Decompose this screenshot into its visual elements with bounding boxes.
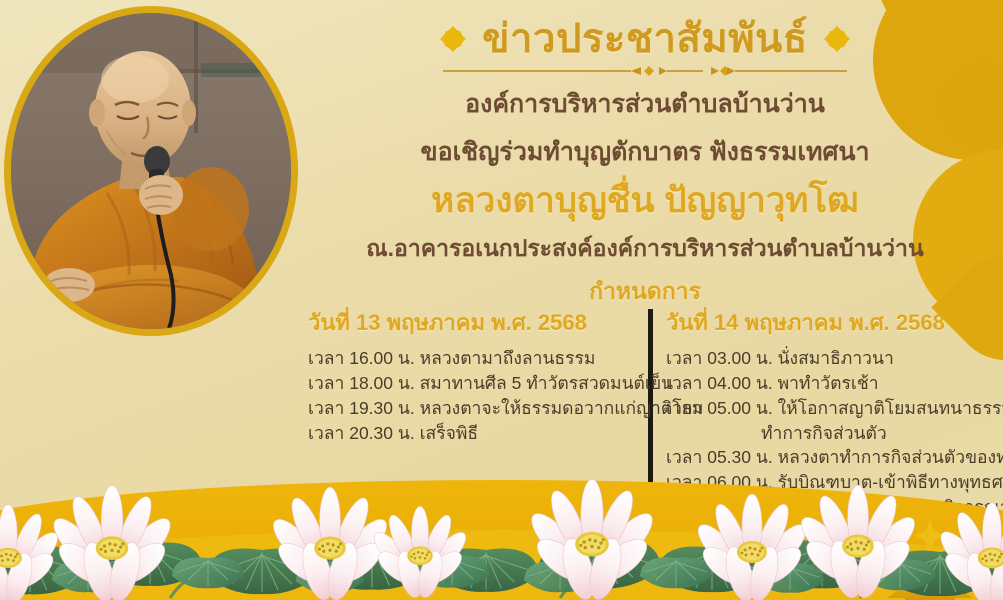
organization-name: องค์การบริหารส่วนตำบลบ้านว่าน — [300, 88, 990, 121]
page-title: ข่าวประชาสัมพันธ์ — [482, 18, 808, 60]
portrait-photo — [11, 13, 291, 329]
quatrefoil-ornament-right — [822, 24, 852, 54]
day1-event: เวลา 16.00 น. หลวงตามาถึงลานธรรม — [308, 346, 648, 371]
day2-event: เวลา 03.00 น. นั่งสมาธิภาวนา — [666, 346, 990, 371]
monk-portrait — [4, 6, 298, 336]
day2-heading: วันที่ 14 พฤษภาคม พ.ศ. 2568 — [666, 305, 990, 340]
header-block: ข่าวประชาสัมพันธ์ องค์การบริหารส่วนตำบลบ… — [300, 18, 990, 310]
day2-event: เวลา 04.00 น. พาทำวัตรเช้า — [666, 371, 990, 396]
invitation-text: ขอเชิญร่วมทำบุญตักบาตร ฟังธรรมเทศนา — [300, 136, 990, 169]
day1-event: เวลา 20.30 น. เสร็จพิธี — [308, 421, 648, 446]
day1-event: เวลา 18.00 น. สมาทานศีล 5 ทำวัตรสวดมนต์เ… — [308, 371, 648, 396]
day1-heading: วันที่ 13 พฤษภาคม พ.ศ. 2568 — [308, 305, 648, 340]
poster-canvas: ข่าวประชาสัมพันธ์ องค์การบริหารส่วนตำบลบ… — [0, 0, 1003, 600]
day2-event: เวลา 05.30 น. หลวงตาทำการกิจส่วนตัวของท่… — [666, 445, 990, 470]
monk-name: หลวงตาบุญชื่น ปัญญาวุทโฒ — [300, 180, 990, 222]
day2-event: เวลา 05.00 น. ให้โอกาสญาติโยมสนทนาธรรมแล… — [666, 396, 990, 421]
title-row: ข่าวประชาสัมพันธ์ — [300, 18, 990, 60]
day1-event: เวลา 19.30 น. หลวงตาจะให้ธรรมดอวากแก่ญาต… — [308, 396, 648, 421]
lotus-decoration-strip — [0, 470, 1003, 600]
quatrefoil-ornament-left — [438, 24, 468, 54]
day2-event-cont: ทำการกิจส่วนตัว — [666, 421, 990, 446]
venue-text: ณ.อาคารอเนกประสงค์องค์การบริหารส่วนตำบลบ… — [300, 234, 990, 264]
title-divider-ornament — [435, 64, 855, 78]
